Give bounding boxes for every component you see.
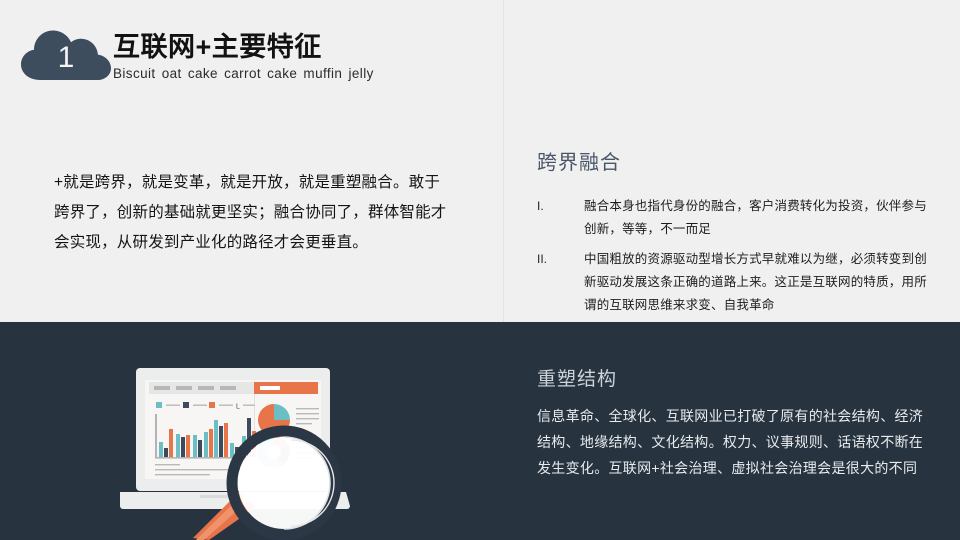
legend-line [219, 405, 233, 406]
legend-line [243, 405, 255, 406]
restructure-heading: 重塑结构 [537, 364, 937, 391]
toolbar-button [260, 386, 280, 390]
pie-caption-line [296, 408, 319, 409]
toolbar-item [154, 386, 170, 390]
pie-caption-line [296, 418, 319, 419]
slide-root: 1 互联网+主要特征 Biscuit oat cake carrot cake … [0, 0, 960, 540]
restructure-section: 重塑结构 信息革命、全球化、互联网业已打破了原有的社会结构、经济结构、地缘结构、… [537, 364, 937, 481]
pie-caption-line [296, 423, 312, 424]
list-marker: I. [537, 195, 584, 241]
toolbar-item [176, 386, 192, 390]
caption-line [155, 474, 210, 475]
legend-label-L: L [236, 404, 240, 411]
list-text: 融合本身也指代身份的融合，客户消费转化为投资，伙伴参与创新，等等，不一而足 [584, 195, 927, 241]
laptop-analytics-illustration: L [110, 360, 380, 540]
toolbar-item [220, 386, 236, 390]
restructure-body: 信息革命、全球化、互联网业已打破了原有的社会结构、经济结构、地缘结构、文化结构。… [537, 403, 937, 481]
legend-swatch-navy [183, 402, 189, 408]
cloud-badge: 1 [20, 27, 112, 81]
toolbar-item [198, 386, 214, 390]
fusion-heading: 跨界融合 [537, 146, 927, 175]
chart-y-axis [155, 414, 157, 458]
vertical-divider [503, 0, 504, 322]
intro-paragraph: +就是跨界，就是变革，就是开放，就是重塑融合。敢于跨界了，创新的基础就更坚实；融… [54, 168, 454, 258]
page-subtitle: Biscuit oat cake carrot cake muffin jell… [113, 66, 374, 81]
badge-number: 1 [20, 27, 112, 81]
title-block: 互联网+主要特征 Biscuit oat cake carrot cake mu… [113, 32, 374, 81]
pie-caption-line [296, 413, 319, 414]
caption-line [155, 469, 240, 470]
legend-line [166, 405, 180, 406]
legend-swatch-teal [156, 402, 162, 408]
list-text: 中国粗放的资源驱动型增长方式早就难以为继，必须转变到创新驱动发展这条正确的道路上… [584, 248, 927, 317]
page-title: 互联网+主要特征 [113, 32, 374, 63]
list-item: II. 中国粗放的资源驱动型增长方式早就难以为继，必须转变到创新驱动发展这条正确… [537, 248, 927, 317]
legend-swatch-orange [209, 402, 215, 408]
magnifying-glass-icon [232, 431, 336, 535]
fusion-section: 跨界融合 I. 融合本身也指代身份的融合，客户消费转化为投资，伙伴参与创新，等等… [537, 146, 927, 324]
slide-header: 1 互联网+主要特征 Biscuit oat cake carrot cake … [0, 0, 960, 120]
legend-line [193, 405, 207, 406]
list-item: I. 融合本身也指代身份的融合，客户消费转化为投资，伙伴参与创新，等等，不一而足 [537, 195, 927, 241]
caption-line [155, 464, 180, 465]
list-marker: II. [537, 248, 584, 317]
